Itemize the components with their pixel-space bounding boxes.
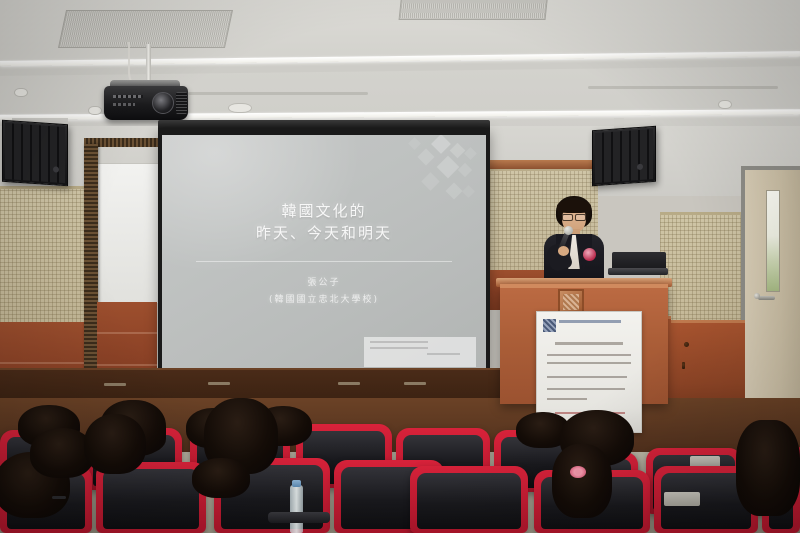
- poster-text-line: [555, 342, 623, 345]
- water-bottle-cap: [292, 480, 301, 487]
- ceiling-rail: [588, 86, 778, 89]
- laptop-lid: [612, 252, 666, 269]
- projector-indicator-lights: [113, 103, 135, 106]
- ceiling-dome-icon: [228, 103, 252, 113]
- cabinet-keyhole-icon: [682, 362, 685, 369]
- slide-title-line2: 昨天、今天和明天: [162, 223, 486, 245]
- presenter-glasses-left: [562, 214, 573, 221]
- lecture-hall-photo: 韓國文化的 昨天、今天和明天 張公子 (韓國國立忠北大學校): [0, 0, 800, 533]
- presenter-corsage: [583, 248, 596, 261]
- speaker-grille: [595, 129, 653, 183]
- whiteboard: [97, 163, 159, 304]
- cabinet-handle-icon: [208, 382, 230, 385]
- smoke-detector-icon: [88, 106, 102, 115]
- cabinet-knob-icon: [684, 342, 689, 347]
- projector-lens-icon: [152, 92, 174, 114]
- seat-armrest: [268, 512, 330, 523]
- speaker-driver-icon: [53, 166, 59, 172]
- cabinet-handle-icon: [404, 382, 426, 385]
- microphone-icon: [564, 226, 573, 235]
- cabinet-handle-icon: [338, 382, 360, 385]
- poster-text-line: [547, 362, 631, 364]
- smoke-detector-icon: [718, 100, 732, 109]
- projection-screen: 韓國文化的 昨天、今天和明天 張公子 (韓國國立忠北大學校): [158, 128, 490, 391]
- decorative-column: [84, 144, 98, 402]
- slide-title: 韓國文化的 昨天、今天和明天: [162, 201, 486, 245]
- poster-text-line: [547, 398, 587, 400]
- ceiling-vent: [399, 0, 549, 20]
- wall-cabinet-right[interactable]: [669, 320, 745, 409]
- door-lock-icon: [754, 293, 760, 299]
- acoustic-panel-left: [0, 186, 86, 327]
- wall-speaker-right: [592, 126, 656, 186]
- pink-hair-bow: [570, 466, 586, 478]
- projector-vent: [176, 92, 187, 114]
- attendee-head: [84, 414, 146, 474]
- seat-tablet-arm[interactable]: [664, 492, 700, 506]
- poster-text-line: [547, 388, 625, 390]
- wall-trim: [490, 160, 598, 169]
- seat[interactable]: [410, 466, 528, 533]
- door-handle[interactable]: [758, 296, 775, 300]
- attendee-glasses: [52, 496, 66, 499]
- wall-speaker-left: [2, 120, 68, 187]
- laptop[interactable]: [608, 268, 668, 275]
- slide-title-line1: 韓國文化的: [162, 201, 486, 223]
- slide-footer-line: [370, 341, 428, 343]
- poster-text-line: [547, 376, 627, 378]
- poster-text-line: [547, 354, 631, 356]
- attendee-head: [192, 458, 250, 498]
- projector-indicator-lights: [113, 95, 143, 98]
- presenter-glasses-right: [575, 214, 586, 221]
- slide-footer-line: [370, 347, 428, 349]
- slide-author-affiliation: (韓國國立忠北大學校): [162, 292, 486, 309]
- presenter: [536, 196, 610, 288]
- water-bottle[interactable]: [290, 485, 303, 533]
- ceiling-rail: [188, 92, 368, 95]
- slide-footer-line: [427, 353, 461, 355]
- stage-back-cabinets: [0, 368, 530, 402]
- slide-author-name: 張公子: [162, 275, 486, 292]
- attendee-head-with-bow: [552, 444, 612, 518]
- attendee-head: [736, 420, 800, 516]
- poster-org-name: [559, 320, 621, 323]
- cabinet-handle-icon: [104, 383, 126, 386]
- slide-divider: [196, 261, 452, 262]
- presenter-hand: [558, 246, 569, 256]
- door-window: [766, 190, 780, 292]
- presenter-fringe: [557, 200, 591, 213]
- acoustic-panel-right: [660, 212, 746, 331]
- speaker-grille: [5, 123, 65, 183]
- screen-surface: 韓國文化的 昨天、今天和明天 張公子 (韓國國立忠北大學校): [162, 135, 486, 381]
- smoke-detector-icon: [14, 88, 28, 97]
- slide-footer-box: [364, 337, 476, 367]
- poster-logo-icon: [543, 319, 556, 332]
- slide-author-block: 張公子 (韓國國立忠北大學校): [162, 275, 486, 309]
